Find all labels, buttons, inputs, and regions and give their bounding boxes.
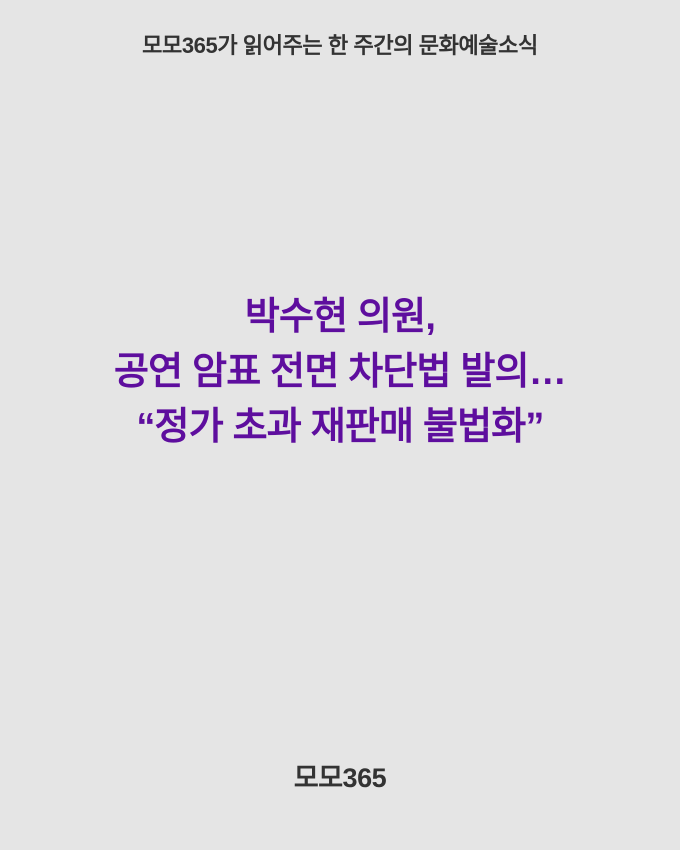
footer-band: 모모365 bbox=[0, 750, 680, 850]
headline-region: 박수현 의원, 공연 암표 전면 차단법 발의… “정가 초과 재판매 불법화” bbox=[0, 100, 680, 750]
header-band: 모모365가 읽어주는 한 주간의 문화예술소식 bbox=[0, 0, 680, 100]
header-tagline: 모모365가 읽어주는 한 주간의 문화예술소식 bbox=[142, 33, 538, 59]
brand-logo: 모모365 bbox=[294, 762, 386, 794]
headline: 박수현 의원, 공연 암표 전면 차단법 발의… “정가 초과 재판매 불법화” bbox=[114, 290, 566, 455]
headline-line-2: 공연 암표 전면 차단법 발의… bbox=[114, 345, 566, 400]
headline-line-3: “정가 초과 재판매 불법화” bbox=[114, 400, 566, 455]
news-card: 모모365가 읽어주는 한 주간의 문화예술소식 박수현 의원, 공연 암표 전… bbox=[0, 0, 680, 850]
headline-line-1: 박수현 의원, bbox=[114, 290, 566, 345]
